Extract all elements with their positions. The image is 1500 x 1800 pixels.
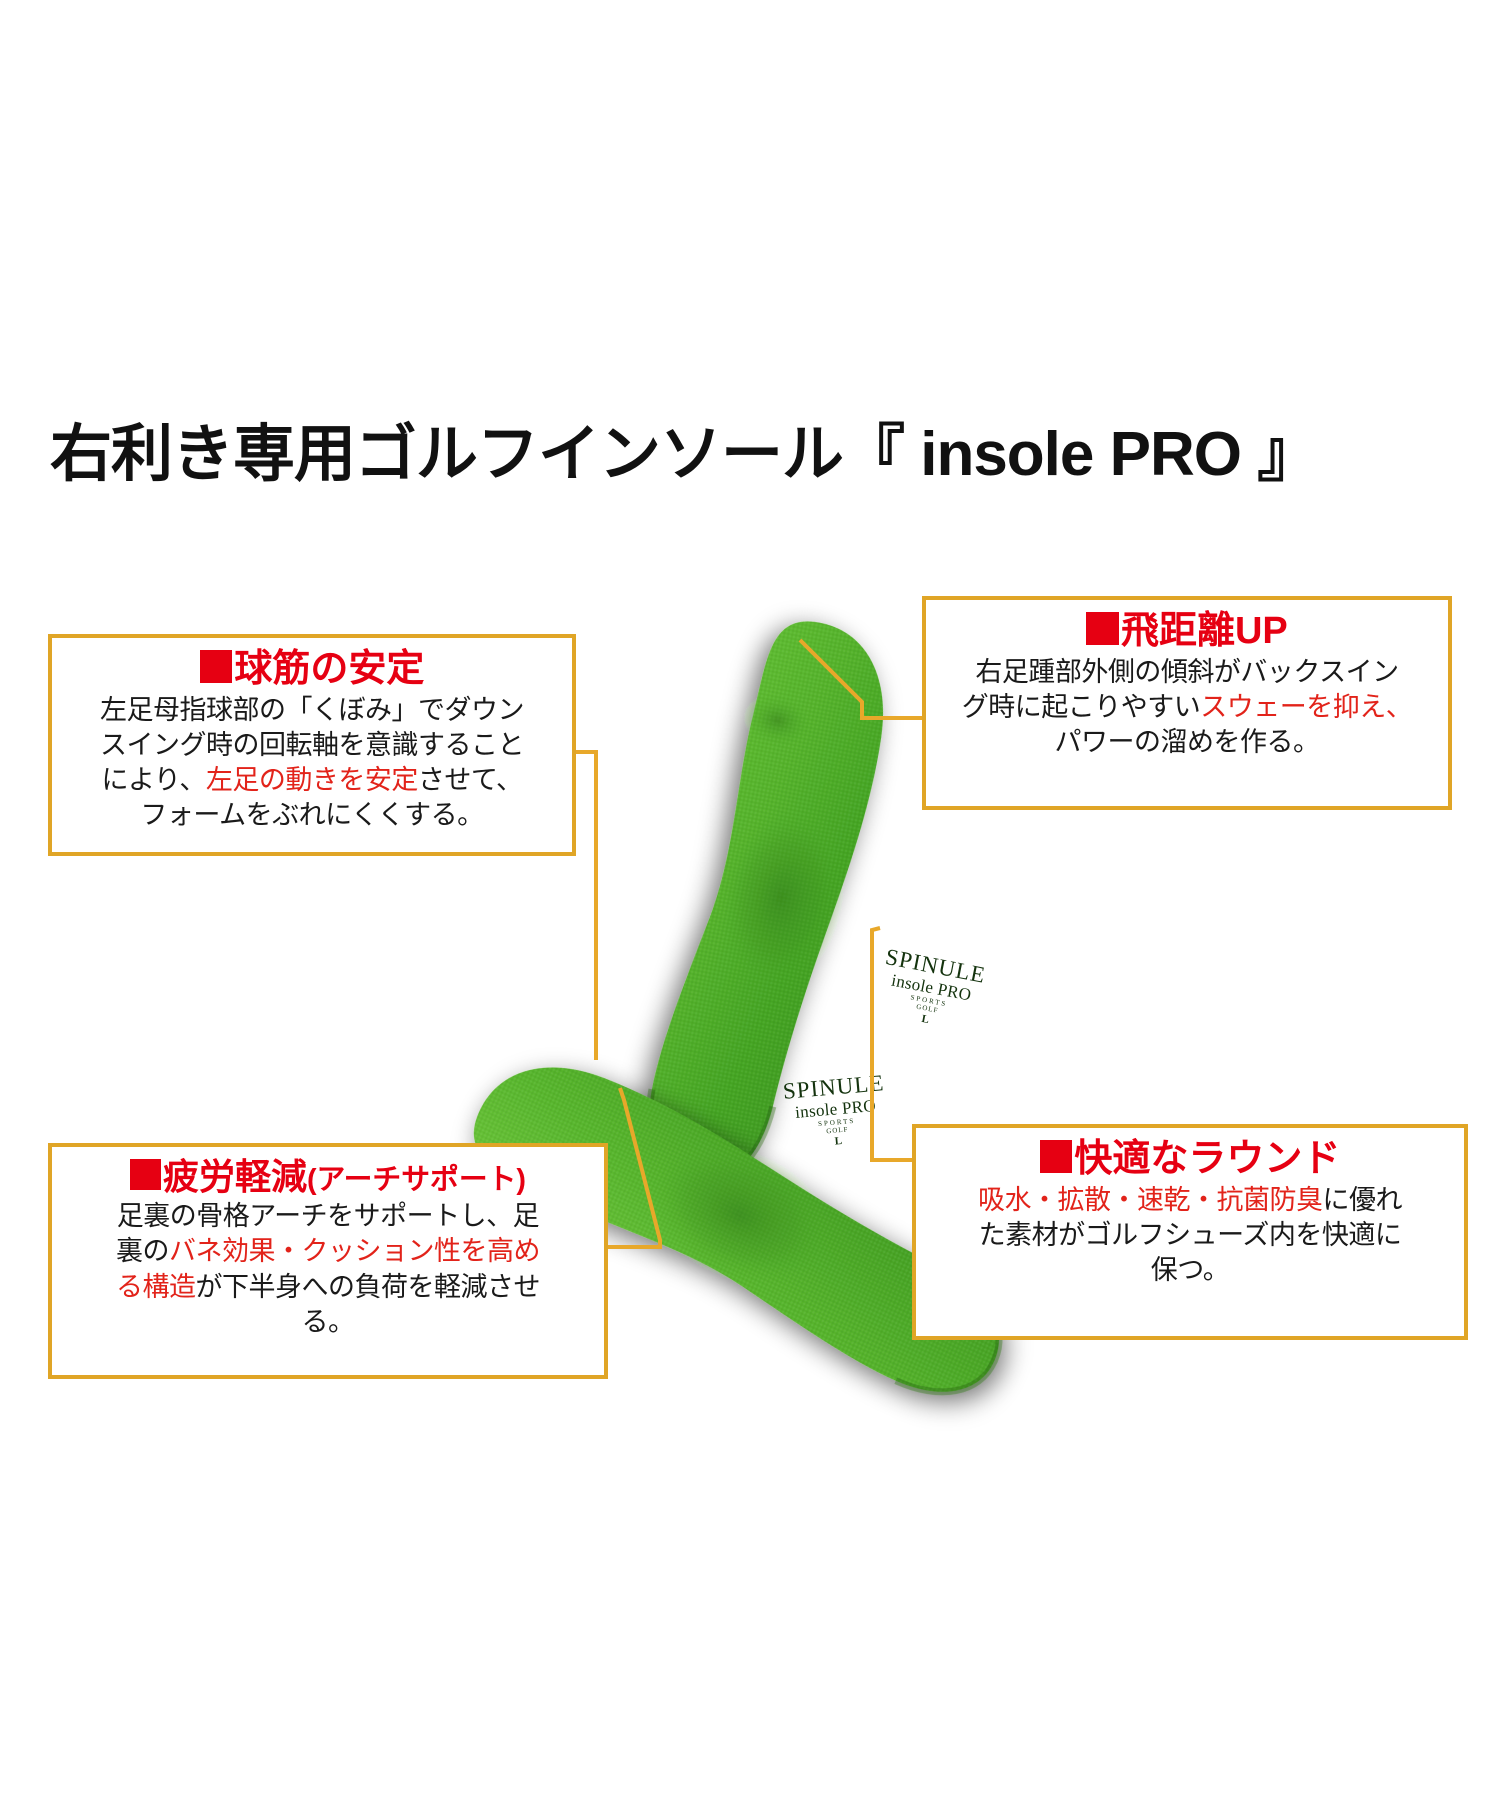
text-line: 保つ。: [928, 1253, 1452, 1288]
text-line: フォームをぶれにくくする。: [64, 798, 560, 833]
text-line: た素材がゴルフシューズ内を快適に: [928, 1218, 1452, 1253]
callout-distance-body: 右足踵部外側の傾斜がバックスイン グ時に起こりやすいスウェーを抑え、 パワーの溜…: [938, 655, 1436, 760]
callout-distance-heading: 飛距離UP: [938, 610, 1436, 653]
red-square-icon: [1040, 1140, 1073, 1173]
callout-stability: 球筋の安定 左足母指球部の「くぼみ」でダウン スイング時の回転軸を意識すること …: [48, 634, 576, 856]
callout-fatigue: 疲労軽減(アーチサポート) 足裏の骨格アーチをサポートし、足 裏のバネ効果・クッ…: [48, 1143, 608, 1379]
text-line: グ時に起こりやすいスウェーを抑え、: [938, 690, 1436, 725]
callout-fatigue-heading: 疲労軽減(アーチサポート): [64, 1157, 592, 1197]
text-line: る。: [64, 1305, 592, 1340]
insole-illustration: [0, 0, 1500, 1800]
red-square-icon: [200, 650, 233, 683]
text-line: 吸水・拡散・速乾・抗菌防臭に優れ: [928, 1183, 1452, 1218]
text-line: パワーの溜めを作る。: [938, 725, 1436, 760]
text-line: 右足踵部外側の傾斜がバックスイン: [938, 655, 1436, 690]
red-square-icon: [1086, 612, 1119, 645]
callout-fatigue-body: 足裏の骨格アーチをサポートし、足 裏のバネ効果・クッション性を高め る構造が下半…: [64, 1199, 592, 1339]
callout-stability-heading: 球筋の安定: [64, 648, 560, 691]
callout-comfort-heading: 快適なラウンド: [928, 1138, 1452, 1181]
text-line: 裏のバネ効果・クッション性を高め: [64, 1234, 592, 1269]
text-line: 足裏の骨格アーチをサポートし、足: [64, 1199, 592, 1234]
insole-right: [636, 608, 901, 1200]
callout-comfort-body: 吸水・拡散・速乾・抗菌防臭に優れ た素材がゴルフシューズ内を快適に 保つ。: [928, 1183, 1452, 1288]
text-line: る構造が下半身への負荷を軽減させ: [64, 1270, 592, 1305]
red-square-icon: [130, 1159, 161, 1190]
product-photo-group: SPINULE insole PRO SPORTS GOLF L SPINULE…: [0, 0, 1500, 1800]
callout-comfort: 快適なラウンド 吸水・拡散・速乾・抗菌防臭に優れ た素材がゴルフシューズ内を快適…: [912, 1124, 1468, 1340]
text-line: 左足母指球部の「くぼみ」でダウン: [64, 693, 560, 728]
text-line: スイング時の回転軸を意識すること: [64, 728, 560, 763]
infographic-page: 右利き専用ゴルフインソール『 insole PRO 』: [0, 0, 1500, 1800]
callout-distance: 飛距離UP 右足踵部外側の傾斜がバックスイン グ時に起こりやすいスウェーを抑え、…: [922, 596, 1452, 810]
callout-stability-body: 左足母指球部の「くぼみ」でダウン スイング時の回転軸を意識すること により、左足…: [64, 693, 560, 833]
text-line: により、左足の動きを安定させて、: [64, 763, 560, 798]
